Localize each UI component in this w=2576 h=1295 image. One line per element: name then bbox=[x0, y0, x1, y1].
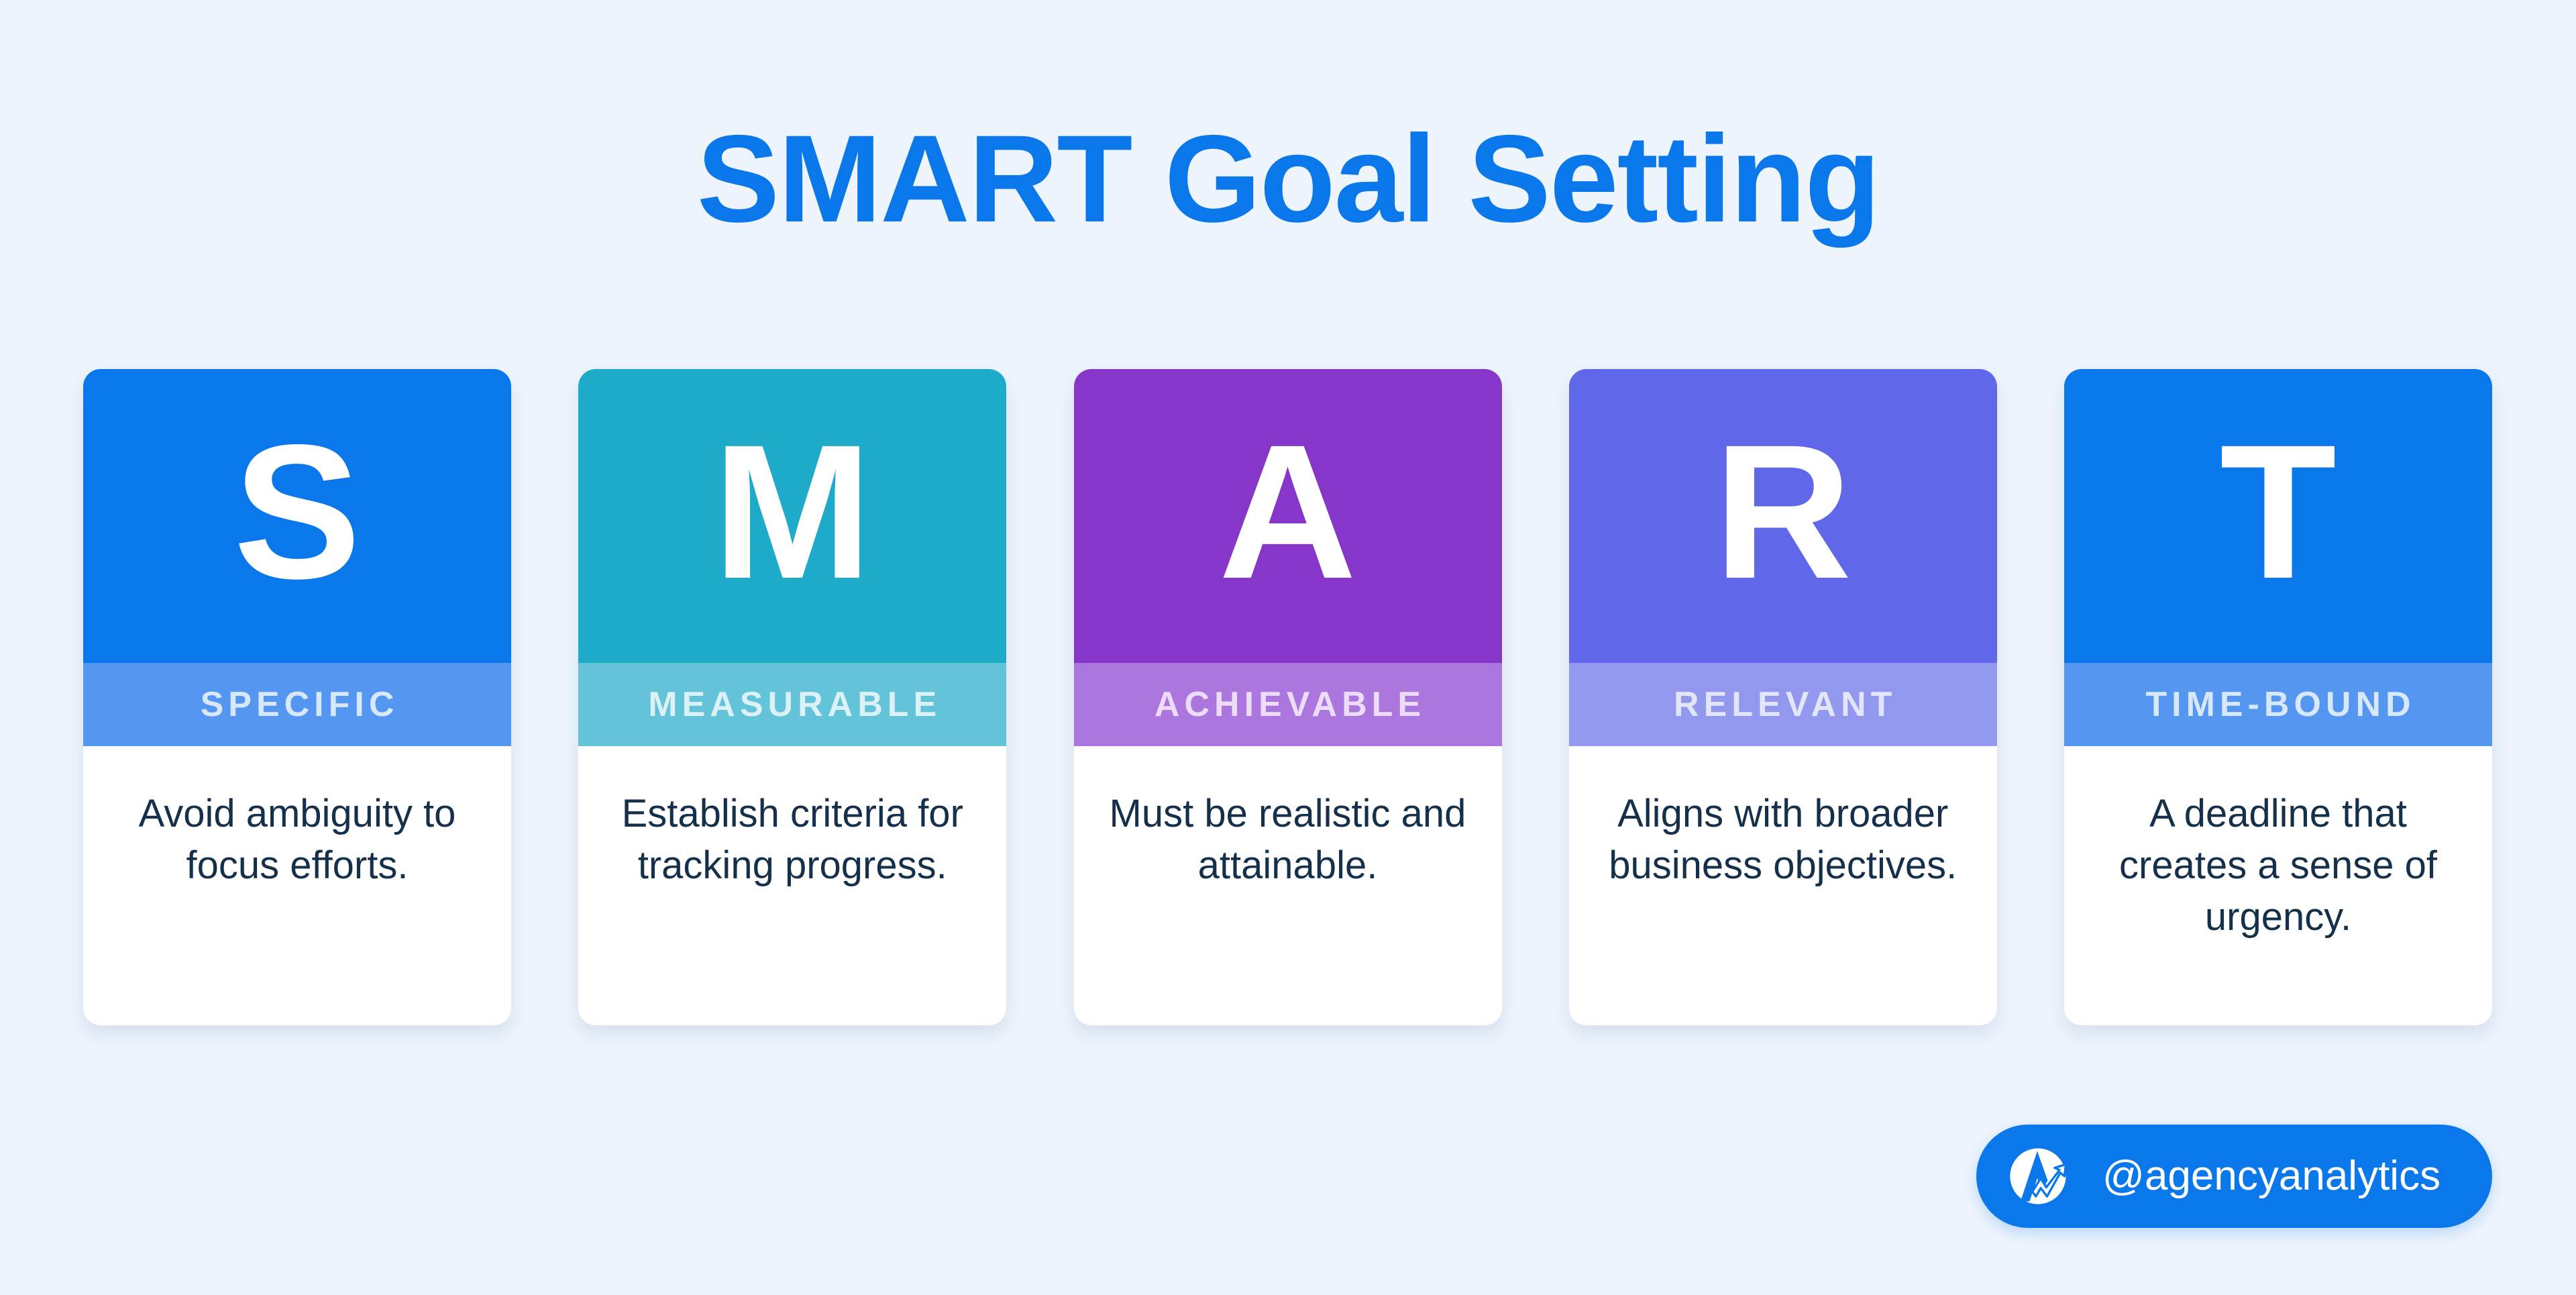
card-label-measurable: MEASURABLE bbox=[643, 687, 941, 722]
card-header-specific: S bbox=[83, 369, 511, 663]
card-header-time-bound: T bbox=[2064, 369, 2492, 663]
card-label-time-bound: TIME-BOUND bbox=[2141, 687, 2415, 722]
card-body-relevant: Aligns with broader business objectives. bbox=[1569, 746, 1997, 1025]
card-letter-m: M bbox=[713, 417, 872, 608]
agencyanalytics-logo-icon bbox=[2004, 1141, 2074, 1211]
card-body-achievable: Must be realistic and attainable. bbox=[1074, 746, 1502, 1025]
card-letter-r: R bbox=[1714, 417, 1852, 608]
card-header-achievable: A bbox=[1074, 369, 1502, 663]
card-band-specific: SPECIFIC bbox=[83, 663, 511, 746]
card-body-measurable: Establish criteria for tracking progress… bbox=[578, 746, 1006, 1025]
smart-card-measurable[interactable]: M MEASURABLE Establish criteria for trac… bbox=[578, 369, 1006, 1025]
card-description-relevant: Aligns with broader business objectives. bbox=[1589, 788, 1977, 891]
card-label-specific: SPECIFIC bbox=[196, 687, 399, 722]
page-title-container: SMART Goal Setting bbox=[0, 117, 2576, 242]
card-band-measurable: MEASURABLE bbox=[578, 663, 1006, 746]
smart-card-achievable[interactable]: A ACHIEVABLE Must be realistic and attai… bbox=[1074, 369, 1502, 1025]
card-band-achievable: ACHIEVABLE bbox=[1074, 663, 1502, 746]
card-letter-t: T bbox=[2220, 417, 2337, 608]
card-label-achievable: ACHIEVABLE bbox=[1150, 687, 1426, 722]
card-description-achievable: Must be realistic and attainable. bbox=[1094, 788, 1482, 891]
card-body-time-bound: A deadline that creates a sense of urgen… bbox=[2064, 746, 2492, 1025]
card-description-measurable: Establish criteria for tracking progress… bbox=[598, 788, 986, 891]
smart-card-list: S SPECIFIC Avoid ambiguity to focus effo… bbox=[83, 369, 2492, 1025]
card-letter-s: S bbox=[233, 417, 361, 608]
smart-card-relevant[interactable]: R RELEVANT Aligns with broader business … bbox=[1569, 369, 1997, 1025]
card-header-measurable: M bbox=[578, 369, 1006, 663]
card-band-relevant: RELEVANT bbox=[1569, 663, 1997, 746]
social-handle-badge[interactable]: @agencyanalytics bbox=[1976, 1125, 2492, 1228]
smart-card-specific[interactable]: S SPECIFIC Avoid ambiguity to focus effo… bbox=[83, 369, 511, 1025]
smart-card-time-bound[interactable]: T TIME-BOUND A deadline that creates a s… bbox=[2064, 369, 2492, 1025]
card-description-specific: Avoid ambiguity to focus efforts. bbox=[103, 788, 491, 891]
page-title: SMART Goal Setting bbox=[0, 117, 2576, 242]
card-description-time-bound: A deadline that creates a sense of urgen… bbox=[2084, 788, 2472, 943]
card-label-relevant: RELEVANT bbox=[1669, 687, 1896, 722]
card-letter-a: A bbox=[1219, 417, 1357, 608]
card-band-time-bound: TIME-BOUND bbox=[2064, 663, 2492, 746]
social-handle-text: @agencyanalytics bbox=[2102, 1155, 2440, 1197]
card-body-specific: Avoid ambiguity to focus efforts. bbox=[83, 746, 511, 1025]
card-header-relevant: R bbox=[1569, 369, 1997, 663]
